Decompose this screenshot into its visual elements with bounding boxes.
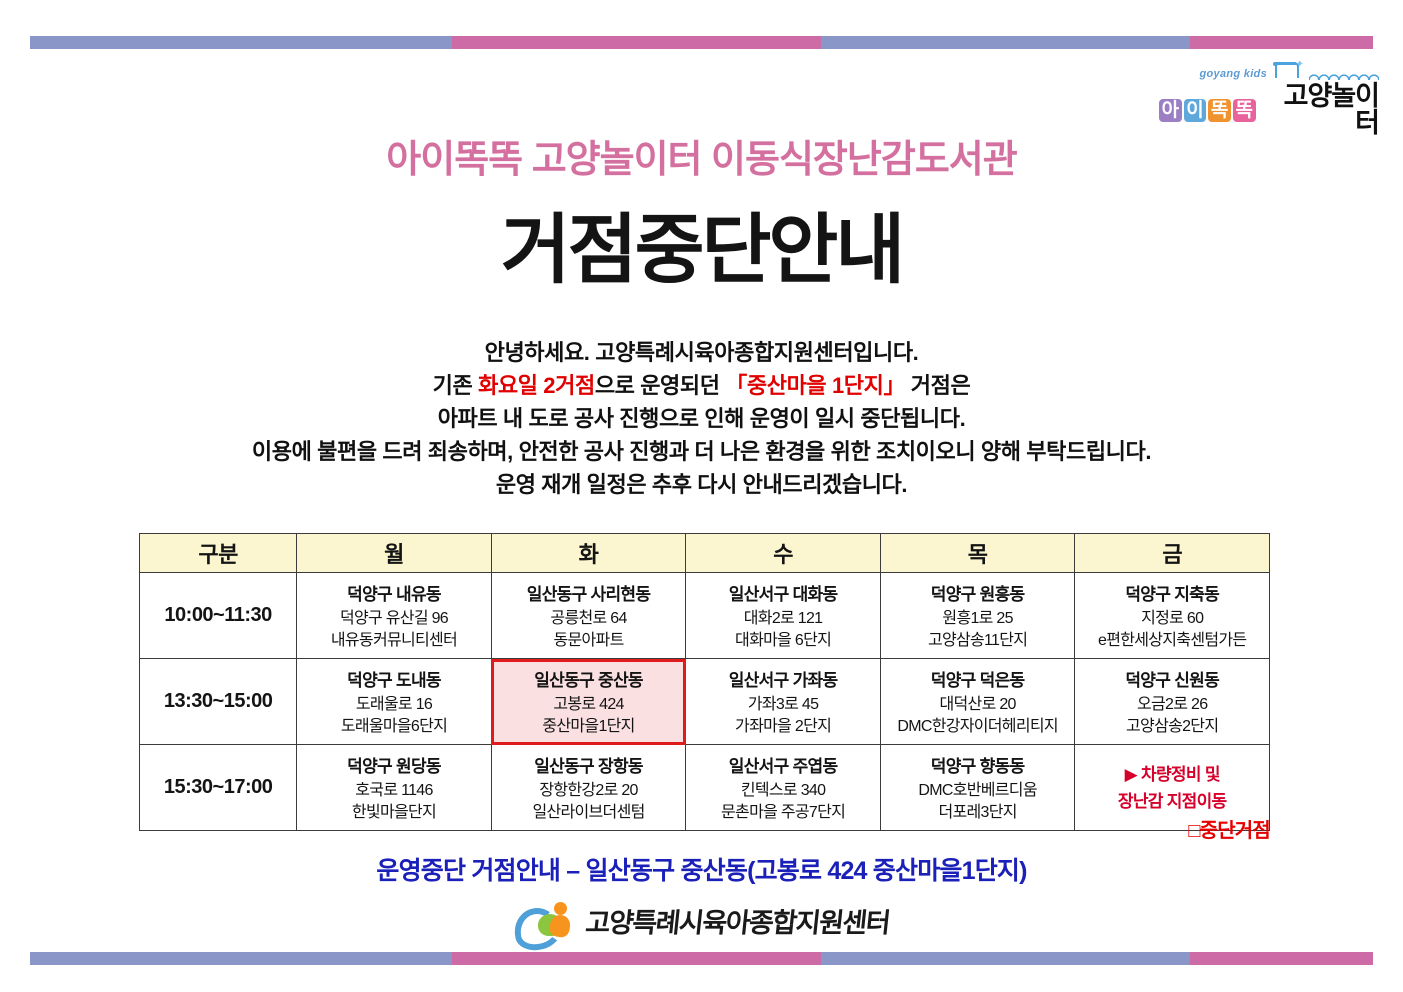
table-row: 15:30~17:00덕양구 원당동호국로 1146한빛마을단지일산동구 장항동… [140, 745, 1270, 831]
body-line-2: 기존 화요일 2거점으로 운영되던 「중산마을 1단지」 거점은 [0, 369, 1403, 402]
organization-signature: 고양특례시육아종합지원센터 [0, 900, 1403, 940]
site-address: 지정로 60 [1077, 608, 1267, 630]
brand-block-3: 똑 [1208, 99, 1231, 122]
site-address: 덕양구 유산길 96 [299, 608, 489, 630]
organization-name: 고양특례시육아종합지원센터 [584, 901, 892, 940]
site-place-name: 내유동커뮤니티센터 [299, 630, 489, 652]
brand-logo: goyang kids ✦ 아 이 똑 똑 고양놀이터 [1159, 58, 1379, 137]
site-district-name: 덕양구 원당동 [299, 752, 489, 777]
site-cell: 일산동구 사리현동공릉천로 64동문아파트 [491, 573, 686, 659]
site-cell: 일산서구 가좌동가좌3로 45가좌마을 2단지 [686, 659, 881, 745]
body-line-4: 이용에 불편을 드려 죄송하며, 안전한 공사 진행과 더 나은 환경을 위한 … [0, 435, 1403, 468]
column-header-mon: 월 [297, 534, 492, 573]
wave-decor-icon [1309, 72, 1379, 80]
brand-block-1: 아 [1159, 99, 1182, 122]
site-cell: 덕양구 도내동도래울로 16도래울마을6단지 [297, 659, 492, 745]
body-highlight-tuesday: 화요일 2거점 [478, 373, 595, 398]
body-line-2-b: 으로 운영되던 [595, 373, 725, 398]
site-address: 호국로 1146 [299, 780, 489, 802]
site-address: 가좌3로 45 [688, 694, 878, 716]
site-cell: 덕양구 지축동지정로 60e편한세상지축센텀가든 [1075, 573, 1270, 659]
site-cell: 일산서구 주엽동킨텍스로 340문촌마을 주공7단지 [686, 745, 881, 831]
site-cell: 덕양구 내유동덕양구 유산길 96내유동커뮤니티센터 [297, 573, 492, 659]
schedule-table: 구분 월 화 수 목 금 10:00~11:30덕양구 내유동덕양구 유산길 9… [139, 533, 1270, 831]
column-header-tue: 화 [491, 534, 686, 573]
site-district-name: 일산서구 가좌동 [688, 666, 878, 691]
site-district-name: 덕양구 신원동 [1077, 666, 1267, 691]
site-district-name: 일산서구 대화동 [688, 580, 878, 605]
site-cell: 덕양구 신원동오금2로 26고양삼송2단지 [1075, 659, 1270, 745]
time-slot-label: 15:30~17:00 [140, 745, 297, 831]
deco-segment-purple-2 [821, 36, 1190, 49]
site-place-name: 중산마을1단지 [494, 716, 684, 738]
deco-segment-purple-4 [821, 952, 1190, 965]
site-cell: 덕양구 향동동DMC호반베르디움더포레3단지 [880, 745, 1075, 831]
schedule-table-wrapper: 구분 월 화 수 목 금 10:00~11:30덕양구 내유동덕양구 유산길 9… [139, 533, 1270, 831]
site-cell: 덕양구 원당동호국로 1146한빛마을단지 [297, 745, 492, 831]
site-district-name: 덕양구 지축동 [1077, 580, 1267, 605]
site-district-name: 덕양구 덕은동 [883, 666, 1073, 691]
site-address: 킨텍스로 340 [688, 780, 878, 802]
site-district-name: 일산서구 주엽동 [688, 752, 878, 777]
site-place-name: 동문아파트 [494, 630, 684, 652]
site-place-name: 더포레3단지 [883, 802, 1073, 824]
time-slot-label: 10:00~11:30 [140, 573, 297, 659]
site-place-name: 문촌마을 주공7단지 [688, 802, 878, 824]
site-address: 오금2로 26 [1077, 694, 1267, 716]
table-header-row: 구분 월 화 수 목 금 [140, 534, 1270, 573]
poster-title: 거점중단안내 [0, 188, 1403, 298]
playhouse-icon: ✦ [1270, 60, 1304, 80]
deco-segment-pink-4 [1190, 952, 1373, 965]
site-address: 공릉천로 64 [494, 608, 684, 630]
time-slot-text: 13:30~15:00 [142, 690, 294, 713]
site-district-name: 덕양구 원흥동 [883, 580, 1073, 605]
maintenance-notice-line1: ▶ 차량정비 및 [1077, 761, 1267, 788]
column-header-thu: 목 [880, 534, 1075, 573]
site-cell: 덕양구 덕은동대덕산로 20DMC한강자이더헤리티지 [880, 659, 1075, 745]
brand-tagline: goyang kids [1200, 69, 1267, 80]
site-district-name: 일산동구 장항동 [494, 752, 684, 777]
site-place-name: 도래울마을6단지 [299, 716, 489, 738]
site-address: 대화2로 121 [688, 608, 878, 630]
bottom-decorative-bar [30, 952, 1373, 965]
column-header-category: 구분 [140, 534, 297, 573]
site-cell-suspended: 일산동구 중산동고봉로 424중산마을1단지 [491, 659, 686, 745]
site-district-name: 일산동구 중산동 [494, 666, 684, 691]
table-row: 10:00~11:30덕양구 내유동덕양구 유산길 96내유동커뮤니티센터일산동… [140, 573, 1270, 659]
site-district-name: 덕양구 도내동 [299, 666, 489, 691]
body-highlight-site: 「중산마을 1단지」 [725, 373, 905, 398]
announcement-body: 안녕하세요. 고양특례시육아종합지원센터입니다. 기존 화요일 2거점으로 운영… [0, 336, 1403, 501]
site-place-name: 가좌마을 2단지 [688, 716, 878, 738]
deco-segment-pink-1 [452, 36, 821, 49]
site-district-name: 덕양구 내유동 [299, 580, 489, 605]
site-place-name: 일산라이브더센텀 [494, 802, 684, 824]
time-slot-text: 10:00~11:30 [142, 604, 294, 627]
site-district-name: 일산동구 사리현동 [494, 580, 684, 605]
site-place-name: 고양삼송2단지 [1077, 716, 1267, 738]
deco-segment-purple-1 [30, 36, 452, 49]
body-line-2-a: 기존 [433, 373, 478, 398]
site-district-name: 덕양구 향동동 [883, 752, 1073, 777]
table-row: 13:30~15:00덕양구 도내동도래울로 16도래울마을6단지일산동구 중산… [140, 659, 1270, 745]
site-place-name: e편한세상지축센텀가든 [1077, 630, 1267, 652]
body-line-2-c: 거점은 [905, 373, 970, 398]
site-cell: 일산서구 대화동대화2로 121대화마을 6단지 [686, 573, 881, 659]
body-line-3: 아파트 내 도로 공사 진행으로 인해 운영이 일시 중단됩니다. [0, 402, 1403, 435]
site-place-name: 대화마을 6단지 [688, 630, 878, 652]
column-header-fri: 금 [1075, 534, 1270, 573]
site-place-name: 고양삼송11단지 [883, 630, 1073, 652]
site-cell: 덕양구 원흥동원흥1로 25고양삼송11단지 [880, 573, 1075, 659]
time-slot-text: 15:30~17:00 [142, 776, 294, 799]
column-header-wed: 수 [686, 534, 881, 573]
site-place-name: 한빛마을단지 [299, 802, 489, 824]
site-address: 장항한강2로 20 [494, 780, 684, 802]
site-address: 대덕산로 20 [883, 694, 1073, 716]
top-decorative-bar [30, 36, 1373, 49]
deco-segment-pink-2 [1190, 36, 1373, 49]
footer-notice: 운영중단 거점안내 – 일산동구 중산동(고봉로 424 중산마을1단지) [0, 851, 1403, 887]
site-address: 원흥1로 25 [883, 608, 1073, 630]
time-slot-label: 13:30~15:00 [140, 659, 297, 745]
site-address: 고봉로 424 [494, 694, 684, 716]
body-line-1: 안녕하세요. 고양특례시육아종합지원센터입니다. [0, 336, 1403, 369]
body-line-5: 운영 재개 일정은 추후 다시 안내드리겠습니다. [0, 468, 1403, 501]
legend-suspended-site: □중단거점 [1188, 814, 1270, 843]
maintenance-notice-line2: 장난감 지점이동 [1077, 788, 1267, 815]
site-cell: 일산동구 장항동장항한강2로 20일산라이브더센텀 [491, 745, 686, 831]
site-address: DMC호반베르디움 [883, 780, 1073, 802]
site-place-name: DMC한강자이더헤리티지 [883, 716, 1073, 738]
center-logo-icon [514, 900, 576, 940]
brand-block-2: 이 [1184, 99, 1207, 122]
poster-subtitle: 아이똑똑 고양놀이터 이동식장난감도서관 [0, 128, 1403, 183]
site-address: 도래울로 16 [299, 694, 489, 716]
brand-tagline-row: goyang kids ✦ [1159, 58, 1379, 80]
brand-block-4: 똑 [1233, 99, 1256, 122]
deco-segment-purple-3 [30, 952, 452, 965]
deco-segment-pink-3 [452, 952, 821, 965]
